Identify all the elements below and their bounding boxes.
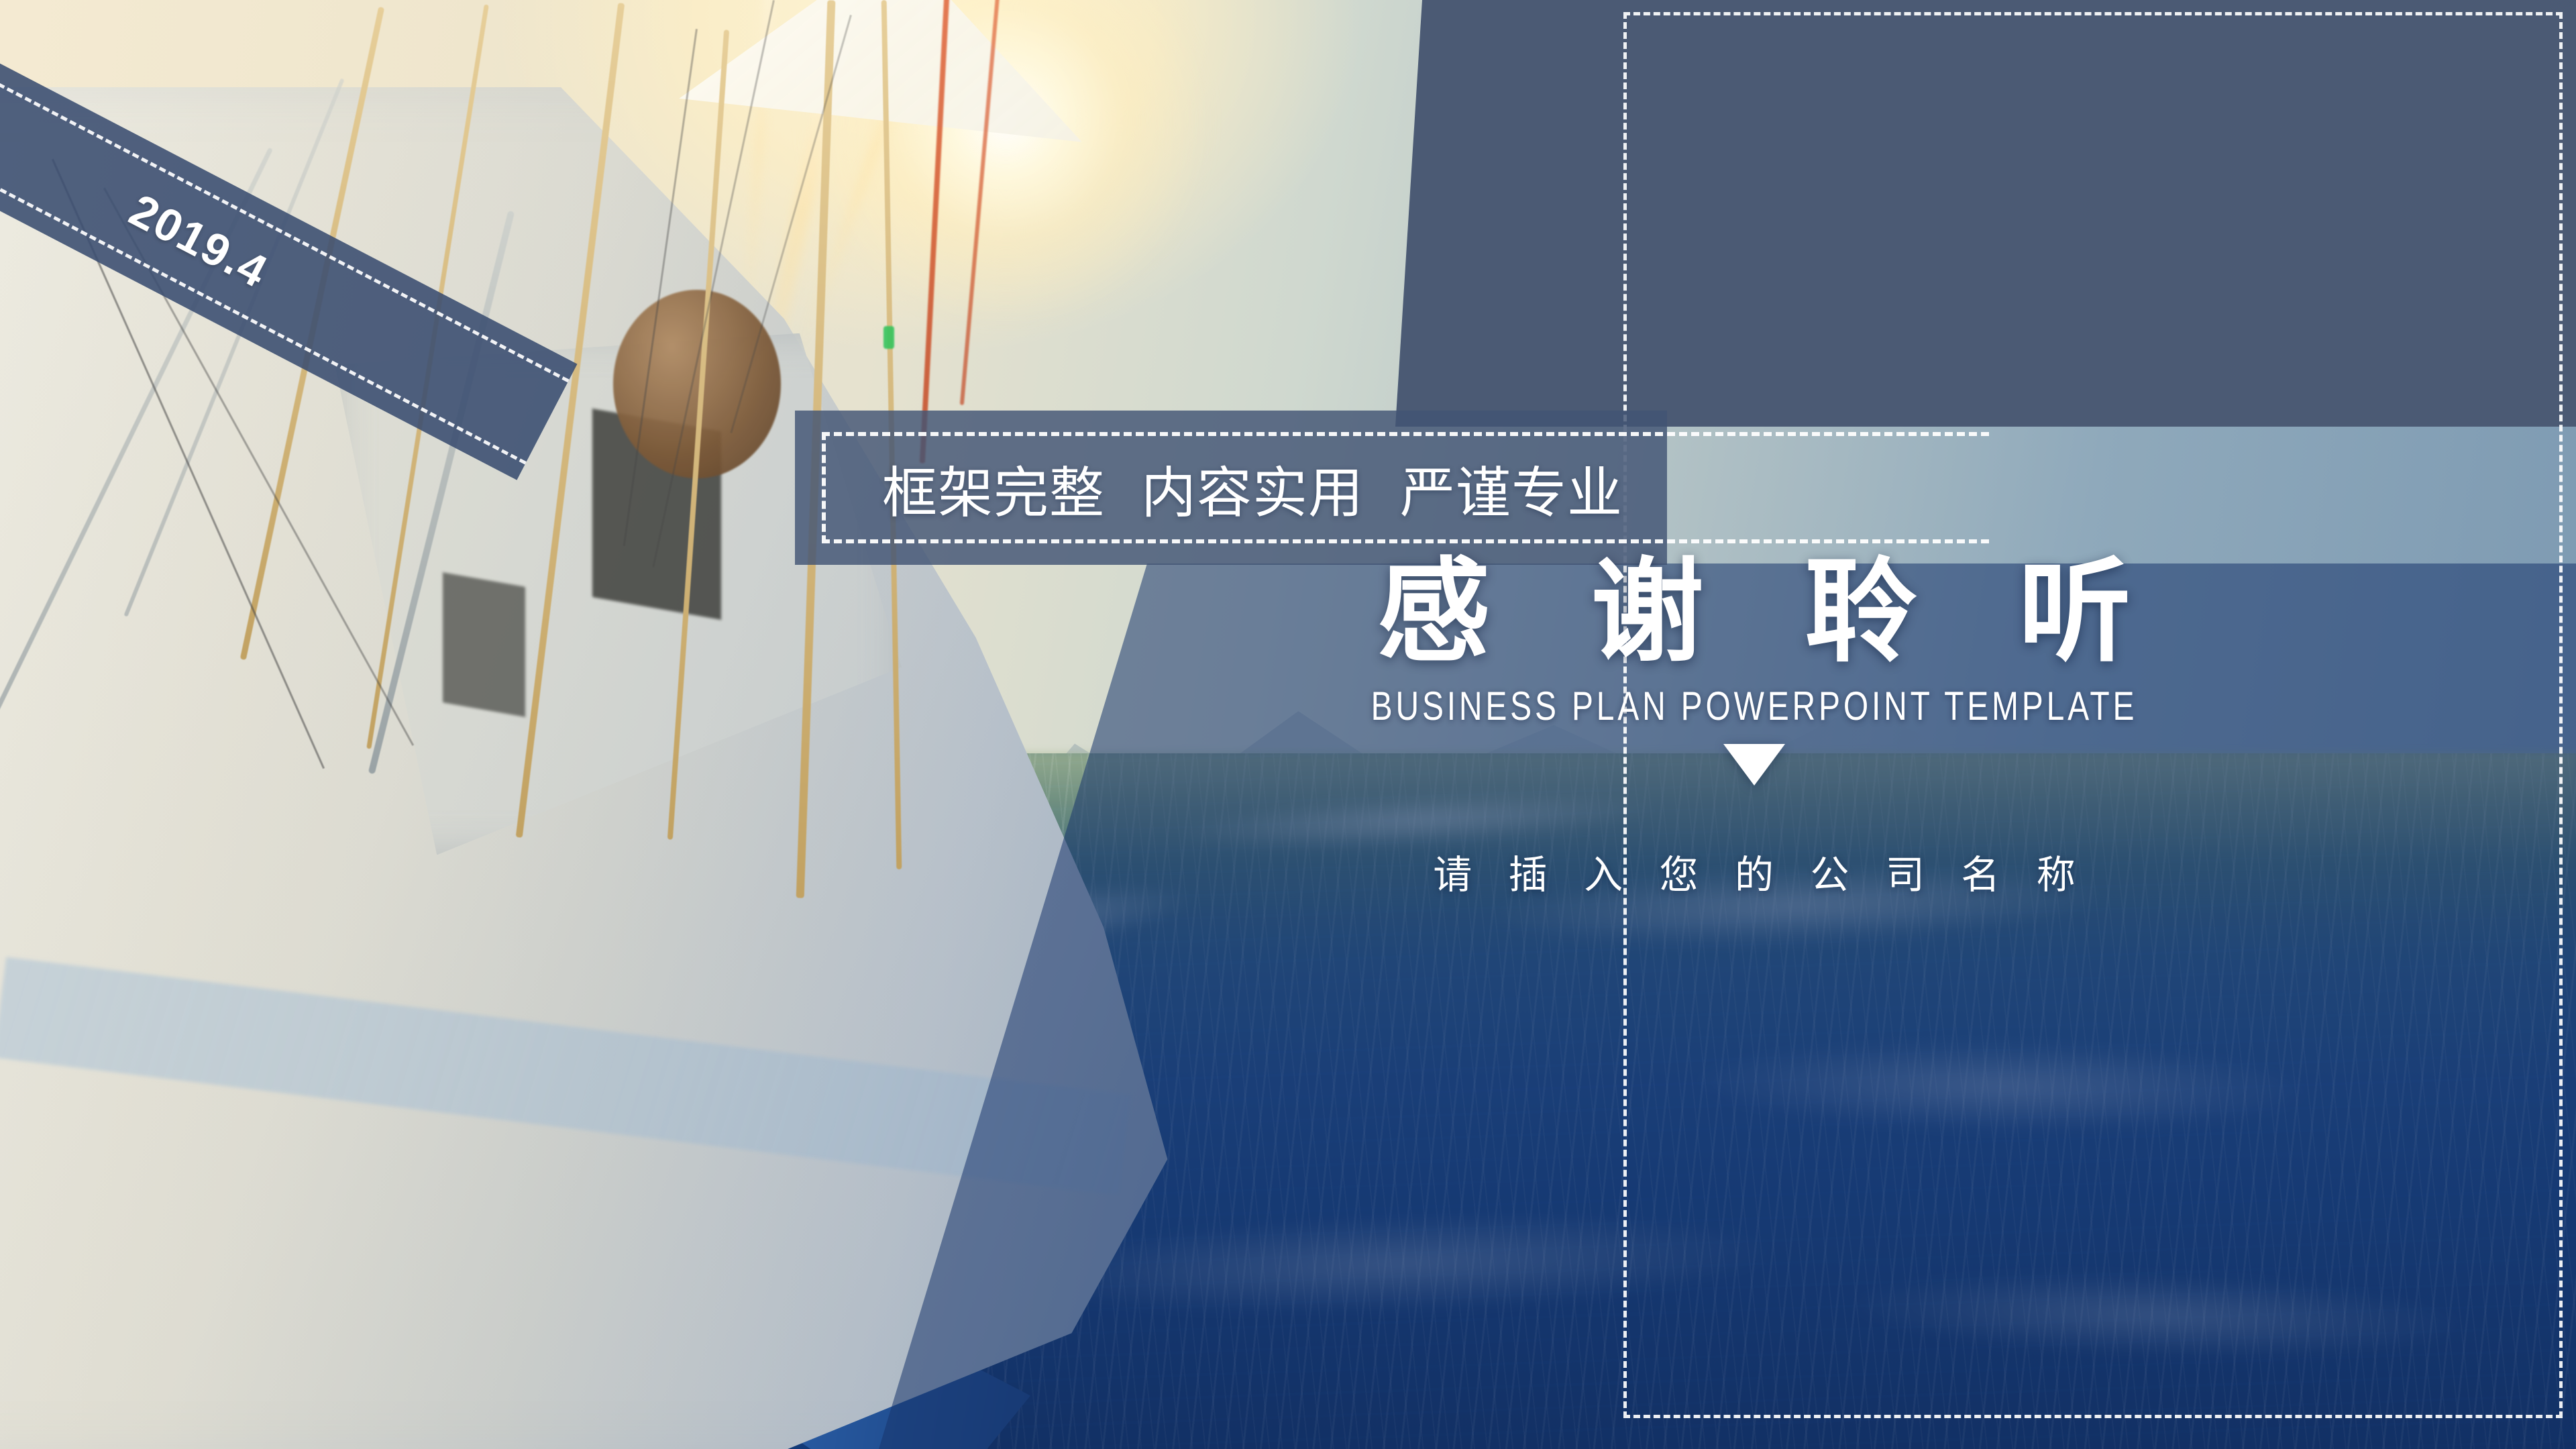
top-right-panel (1395, 0, 2576, 427)
tagline-item-2: 内容实用 (1141, 462, 1364, 525)
triangle-down-icon (1723, 744, 1785, 786)
presentation-slide: 2019.4 框架完整内容实用严谨专业 感 谢 聆 听 BUSINESS PLA… (0, 0, 2576, 1449)
tagline-item-3: 严谨专业 (1400, 462, 1623, 525)
tagline-item-1: 框架完整 (882, 462, 1105, 525)
page-subtitle: BUSINESS PLAN POWERPOINT TEMPLATE (1231, 683, 2277, 729)
tagline-text: 框架完整内容实用严谨专业 (882, 448, 1623, 528)
page-title: 感 谢 聆 听 (1100, 555, 2408, 668)
boat-green-clip (883, 326, 894, 349)
date-label: 2019.4 (121, 184, 276, 299)
company-name-placeholder: 请 插 入 您 的 公 司 名 称 (1100, 843, 2408, 900)
main-content-block: 感 谢 聆 听 BUSINESS PLAN POWERPOINT TEMPLAT… (1100, 555, 2408, 900)
tagline-band: 框架完整内容实用严谨专业 (795, 411, 1667, 565)
boat-window (443, 572, 525, 717)
